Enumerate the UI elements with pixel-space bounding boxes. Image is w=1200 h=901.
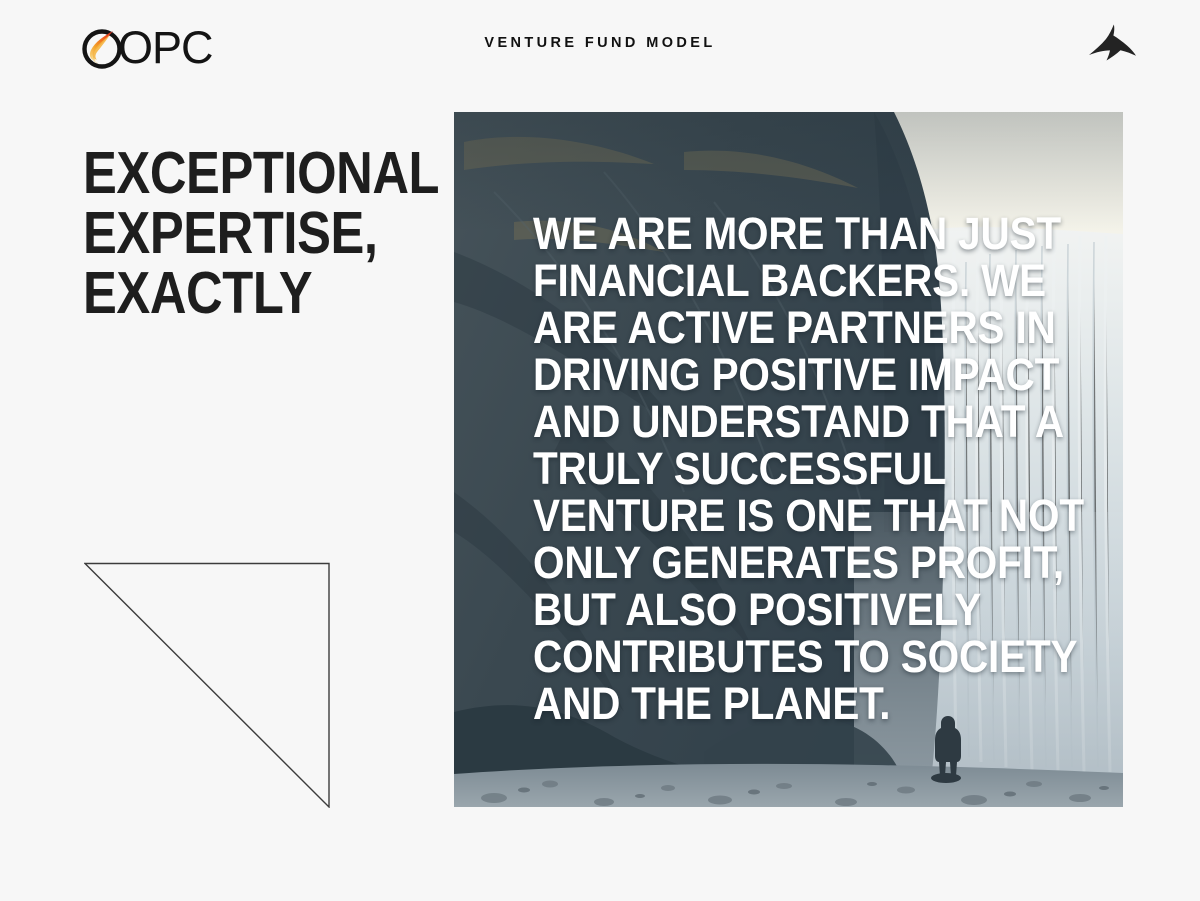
quote-line-4: DRIVING POSITIVE IMPACT xyxy=(533,351,983,398)
headline-line-2: EXPERTISE, xyxy=(83,203,410,263)
headline-line-3: EXACTLY xyxy=(83,263,410,323)
page-title: EXCEPTIONAL EXPERTISE, EXACTLY xyxy=(83,143,410,323)
slide-header: OPC VENTURE FUND MODEL xyxy=(0,0,1200,112)
quote-text: WE ARE MORE THAN JUST FINANCIAL BACKERS.… xyxy=(533,210,983,727)
quote-line-7: VENTURE IS ONE THAT NOT xyxy=(533,492,983,539)
quote-line-3: ARE ACTIVE PARTNERS IN xyxy=(533,304,983,351)
triangle-outline-decoration xyxy=(84,562,330,808)
quote-line-1: WE ARE MORE THAN JUST xyxy=(533,210,983,257)
document-title: VENTURE FUND MODEL xyxy=(0,35,1200,51)
quote-line-11: AND THE PLANET. xyxy=(533,680,983,727)
quote-line-2: FINANCIAL BACKERS. WE xyxy=(533,257,983,304)
quote-line-8: ONLY GENERATES PROFIT, xyxy=(533,539,983,586)
flying-bird-icon xyxy=(1086,22,1138,68)
quote-line-5: AND UNDERSTAND THAT A xyxy=(533,398,983,445)
waterfall-photo: WE ARE MORE THAN JUST FINANCIAL BACKERS.… xyxy=(454,112,1123,807)
slide: OPC VENTURE FUND MODEL EXCEPTIONAL EXPER… xyxy=(0,0,1200,901)
quote-line-6: TRULY SUCCESSFUL xyxy=(533,445,983,492)
headline-line-1: EXCEPTIONAL xyxy=(83,143,410,203)
quote-line-9: BUT ALSO POSITIVELY xyxy=(533,586,983,633)
quote-line-10: CONTRIBUTES TO SOCIETY xyxy=(533,633,983,680)
